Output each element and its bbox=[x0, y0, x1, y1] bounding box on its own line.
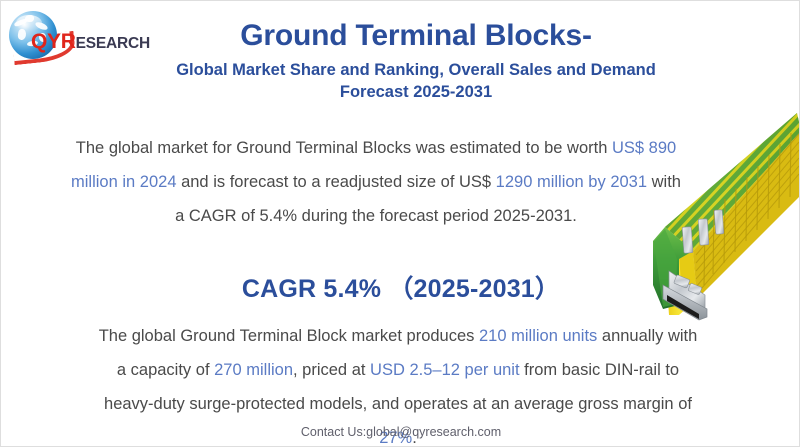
p1-segment-2: and is forecast to a readjusted size of … bbox=[177, 173, 496, 191]
p1-segment-1: The global market for Ground Terminal Bl… bbox=[76, 139, 612, 157]
page-title: Ground Terminal Blocks- bbox=[111, 19, 721, 53]
subtitle-line-1: Global Market Share and Ranking, Overall… bbox=[111, 60, 721, 82]
p2-segment-1: The global Ground Terminal Block market … bbox=[99, 327, 479, 345]
logo-text-qyr: QYR bbox=[31, 30, 76, 53]
page-subtitle: Global Market Share and Ranking, Overall… bbox=[111, 60, 721, 104]
subtitle-line-2: Forecast 2025-2031 bbox=[111, 82, 721, 104]
title-block: Ground Terminal Blocks- Global Market Sh… bbox=[111, 19, 721, 104]
p2-highlight-3: USD 2.5–12 per unit bbox=[370, 361, 520, 379]
p2-highlight-2: 270 million bbox=[214, 361, 293, 379]
summary-paragraph-top: The global market for Ground Terminal Bl… bbox=[71, 131, 681, 233]
product-image-terminal-blocks bbox=[649, 109, 800, 321]
market-report-poster: QYRESEARCH Ground Terminal Blocks- Globa… bbox=[0, 0, 800, 447]
p2-highlight-1: 210 million units bbox=[479, 327, 597, 345]
p1-highlight-2: 1290 million by 2031 bbox=[496, 173, 647, 191]
contact-line: Contact Us:global@qyresearch.com bbox=[1, 425, 800, 439]
cagr-banner: CAGR 5.4% （2025-2031） bbox=[96, 269, 706, 305]
p2-segment-3: , priced at bbox=[293, 361, 370, 379]
